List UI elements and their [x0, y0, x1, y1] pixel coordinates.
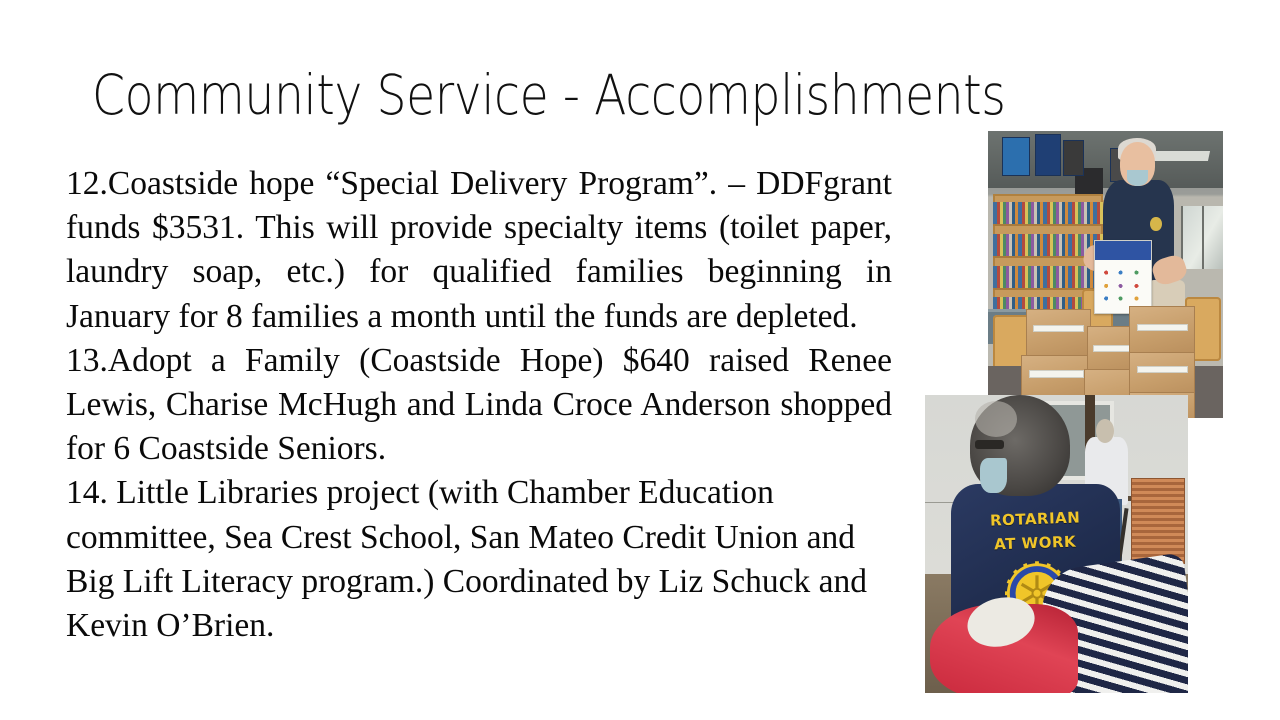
delivery-box [1129, 352, 1195, 398]
box-label [1137, 324, 1188, 331]
shirt-text-line-1: ROTARIAN [951, 507, 1120, 531]
body-text-block: 12.Coastside hope “Special Delivery Prog… [66, 162, 892, 648]
rotarian-scene: ROTARIAN AT WORK [925, 395, 1188, 693]
flyer-icon-grid [1099, 265, 1146, 302]
face-mask [980, 458, 1006, 494]
library-window [1181, 206, 1223, 269]
wall-poster [1035, 134, 1061, 176]
slide: Community Service - Accomplishments 12.C… [0, 0, 1280, 720]
background-volunteer-head [1096, 419, 1114, 443]
flyer-header-band [1095, 241, 1151, 260]
volunteer-grey-hair [975, 401, 1017, 437]
rotarian-at-work-photo: ROTARIAN AT WORK [925, 395, 1188, 693]
delivery-box [1021, 355, 1092, 401]
delivery-box [1026, 309, 1092, 358]
page-title: Community Service - Accomplishments [92, 63, 961, 127]
book-row [993, 202, 1103, 226]
box-label [1137, 366, 1188, 373]
program-flyer [1094, 240, 1152, 314]
library-scene [988, 131, 1223, 418]
delivery-box [1129, 306, 1195, 355]
box-label [1033, 325, 1084, 332]
book-row [993, 266, 1103, 290]
accomplishment-item-12: 12.Coastside hope “Special Delivery Prog… [66, 162, 892, 339]
box-label [1029, 370, 1083, 377]
library-delivery-photo [988, 131, 1223, 418]
wall-poster [1002, 137, 1030, 176]
accomplishment-item-14: 14. Little Libraries project (with Chamb… [66, 471, 892, 648]
accomplishment-item-13: 13.Adopt a Family (Coastside Hope) $640 … [66, 339, 892, 472]
eyeglasses [975, 440, 1004, 449]
stacked-pallets [1131, 478, 1186, 563]
wall-poster [1063, 140, 1084, 176]
shirt-text-line-2: AT WORK [951, 531, 1120, 555]
face-mask [1127, 170, 1148, 186]
